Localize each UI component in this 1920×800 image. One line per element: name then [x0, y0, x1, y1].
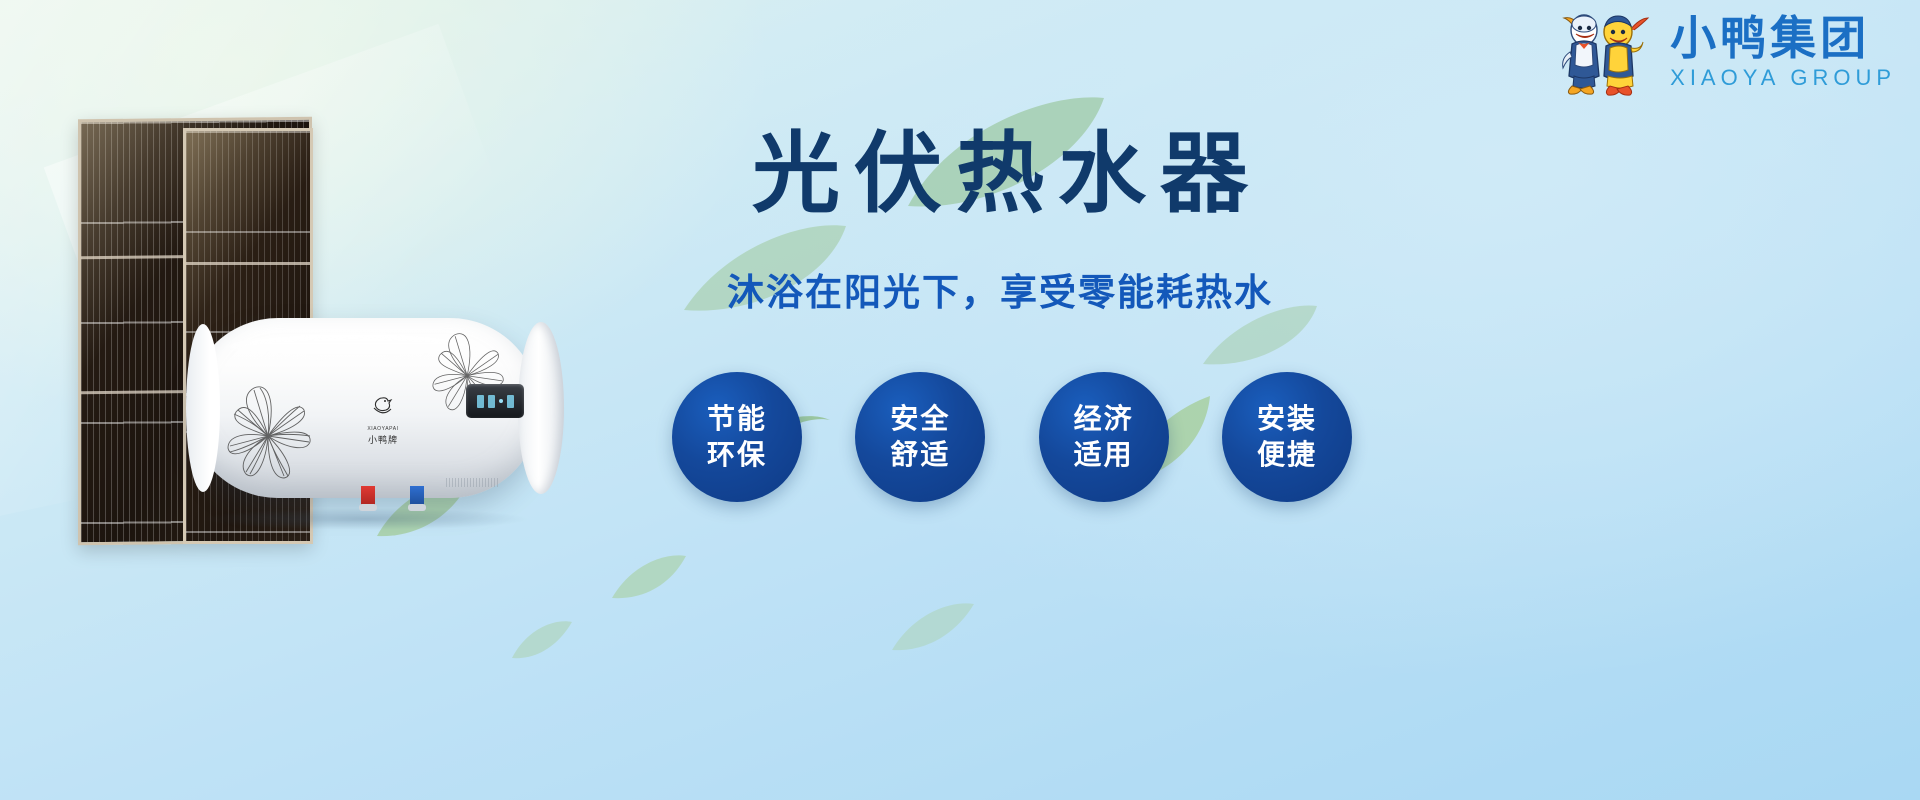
badge-line-1: 经济	[1074, 401, 1134, 437]
heater-brand-mark: XIAOYAPAI 小鸭牌	[356, 394, 410, 446]
horizontal-electric-water-heater: XIAOYAPAI 小鸭牌	[188, 318, 558, 508]
feature-badge-easy-install[interactable]: 安装 便捷	[1222, 372, 1352, 502]
leaf-icon	[610, 552, 688, 602]
badge-line-1: 节能	[707, 401, 767, 437]
heater-brand-cn: 小鸭牌	[356, 433, 410, 446]
display-segment	[477, 395, 484, 408]
heater-right-cap	[518, 322, 564, 494]
display-indicator-dot	[499, 399, 503, 403]
display-segment	[507, 395, 514, 408]
feature-badge-economical[interactable]: 经济 适用	[1039, 372, 1169, 502]
pipe-cap	[359, 504, 377, 511]
heater-label-strip	[446, 478, 500, 487]
heater-control-display[interactable]	[466, 384, 524, 418]
pipe-cap	[408, 504, 426, 511]
leaf-icon	[510, 618, 574, 662]
feature-badge-energy-saving[interactable]: 节能 环保	[672, 372, 802, 502]
badge-line-2: 环保	[707, 437, 767, 473]
duck-logo-icon	[370, 407, 396, 424]
page-subtitle: 沐浴在阳光下，享受零能耗热水	[640, 262, 1360, 316]
badge-line-2: 舒适	[890, 437, 950, 473]
page-title: 光伏热水器	[640, 130, 1360, 218]
heater-ground-shadow	[200, 508, 530, 530]
feature-badge-row: 节能 环保 安全 舒适 经济 适用 安装 便捷	[672, 372, 1352, 502]
badge-line-1: 安全	[890, 401, 950, 437]
xiaoya-duck-mascot-icon	[1548, 4, 1660, 100]
promo-banner: 小鸭集团 XIAOYA GROUP	[0, 0, 1920, 800]
feature-badge-safe-comfortable[interactable]: 安全 舒适	[855, 372, 985, 502]
leaf-icon	[890, 600, 976, 654]
brand-logo[interactable]: 小鸭集团 XIAOYA GROUP	[1548, 4, 1896, 100]
badge-line-2: 便捷	[1257, 437, 1317, 473]
headline-block: 光伏热水器 沐浴在阳光下，享受零能耗热水	[640, 130, 1360, 316]
logo-name-en: XIAOYA GROUP	[1670, 67, 1896, 89]
display-segment	[488, 395, 495, 408]
badge-line-2: 适用	[1074, 437, 1134, 473]
heater-brand-en: XIAOYAPAI	[356, 426, 410, 432]
logo-name-cn: 小鸭集团	[1670, 15, 1896, 61]
badge-line-1: 安装	[1257, 401, 1317, 437]
floral-pattern-icon	[210, 378, 328, 490]
